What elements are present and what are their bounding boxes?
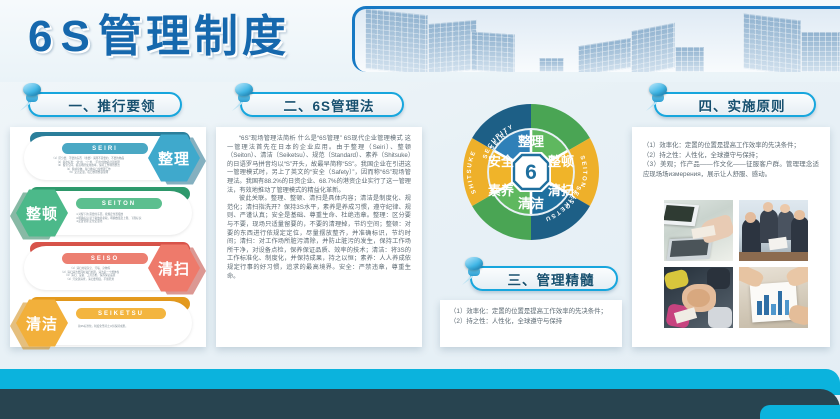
ribbon-seiso-en: SEISO bbox=[91, 256, 119, 262]
section-heading-1: 一、推行要领 bbox=[10, 92, 190, 118]
page-title: 6S管理制度 bbox=[28, 6, 290, 68]
ribbon-seiri-en-pill: SEIRI bbox=[62, 143, 148, 154]
photo-laptop-desk-workspace bbox=[664, 200, 733, 261]
ribbon-seiri-en: SEIRI bbox=[92, 146, 118, 152]
section-pill-3[interactable]: 三、管理精髓 bbox=[470, 266, 618, 291]
page-title-rest: 管理制度 bbox=[98, 12, 290, 61]
principles-line-1: （1）效率化：定置的位置是提高工作效率的先决条件； bbox=[643, 141, 819, 151]
ribbon-seiketsu-lines: 前3S标准化，制度化坚持之以恒保持成果。 bbox=[78, 325, 186, 329]
ribbon-seiso-en-pill: SEISO bbox=[62, 253, 148, 264]
wheel-label-seiton: 整顿 bbox=[547, 154, 574, 169]
essence-line-1: （1）效率化：定置的位置是提高工作效率的先决条件； bbox=[450, 307, 612, 317]
poster-header: 6S管理制度 bbox=[0, 0, 840, 82]
essence-body: （1）效率化：定置的位置是提高工作效率的先决条件； （2）持之性：人性化，全球遵… bbox=[450, 307, 612, 326]
card-6s管理法: “6S”现场管理法简析 什么是“6S管理” 6S现代企业管理模式 这一管理法首先… bbox=[216, 127, 422, 347]
section-heading-4: 四、实施原则 bbox=[636, 92, 826, 118]
photo-grid bbox=[664, 200, 808, 328]
section-label-1: 一、推行要领 bbox=[69, 95, 156, 115]
wheel-label-seiri: 整理 bbox=[517, 134, 544, 149]
ribbon-seiri-lines: （1）区分要、不要的东西 （重要）清理不需要的、不要的物品 （2）频次标准：“常… bbox=[30, 157, 146, 175]
essence-line-2: （2）持之性：人性化，全球遵守与保持 bbox=[450, 317, 612, 327]
wheel-label-seiketsu: 清洁 bbox=[518, 196, 544, 211]
article-paragraph-1: “6S”现场管理法简析 什么是“6S管理” 6S现代企业管理模式 这一管理法首先… bbox=[227, 135, 411, 195]
ribbon-seiri-line-5: （5）定点定量，每日整理整顿现场 bbox=[30, 171, 146, 175]
pushpin-icon bbox=[642, 83, 672, 115]
page-title-main: 6S bbox=[28, 12, 98, 61]
card-推行要领: SEIRI （1）区分要、不要的东西 （重要）清理不需要的、不要的物品 （2）频… bbox=[10, 127, 206, 347]
wheel-label-security: 安全 bbox=[488, 154, 515, 169]
skyline-banner-photo bbox=[352, 6, 840, 72]
ribbon-seiton: SEITON ①对留下的 需要的东西，按规定位置摆放 ②明确标识 易于取放易拿取… bbox=[14, 187, 200, 239]
ribbon-seiton-en-pill: SEITON bbox=[76, 198, 162, 209]
section-label-3: 三、管理精髓 bbox=[508, 269, 595, 289]
poster-root: 6S管理制度 一、推行要领 SEIRI （1）区分要、不要的东西 （重要）清理不… bbox=[0, 0, 840, 419]
ribbon-seiton-cn: 整顿 bbox=[26, 203, 58, 224]
card-实施原则: （1）效率化：定置的位置是提高工作效率的先决条件； （2）持之性：人性化，全球遵… bbox=[632, 127, 830, 347]
section-pill-2[interactable]: 二、6S管理法 bbox=[240, 92, 404, 117]
footer-dark-band bbox=[0, 389, 840, 419]
skyline-inner bbox=[355, 9, 840, 72]
ribbon-seiso: SEISO （1）清扫垃圾灰尘、污垢、杂物等 （2）清扫清洁要同时进行处理，清洁… bbox=[14, 242, 200, 294]
section-heading-2: 二、6S管理法 bbox=[222, 92, 412, 118]
article-paragraph-2: 彼此关联。整理、整顿、清扫是具体内容；清洁是制度化、规范化；清扫指洗开？保持3S… bbox=[227, 195, 411, 281]
wheel-label-shitsuke: 素养 bbox=[488, 183, 515, 198]
ribbon-seiri: SEIRI （1）区分要、不要的东西 （重要）清理不需要的、不要的物品 （2）频… bbox=[14, 132, 200, 184]
pushpin-icon bbox=[458, 257, 488, 289]
pushpin-icon bbox=[228, 83, 258, 115]
pushpin-icon bbox=[16, 83, 46, 115]
ribbon-seiton-en: SEITON bbox=[102, 201, 136, 207]
section-label-4: 四、实施原则 bbox=[699, 95, 786, 115]
section-pill-4[interactable]: 四、实施原则 bbox=[654, 92, 816, 117]
wheel-center-number: 6 bbox=[525, 161, 537, 184]
principles-line-2: （2）持之性：人性化，全球遵守与保持； bbox=[643, 151, 819, 161]
wheel-center-badge: 6 bbox=[511, 152, 551, 192]
card-管理精髓: （1）效率化：定置的位置是提高工作效率的先决条件； （2）持之性：人性化，全球遵… bbox=[440, 300, 622, 347]
section-label-2: 二、6S管理法 bbox=[283, 95, 374, 115]
ribbon-seiketsu-en-pill: SEIKETSU bbox=[76, 308, 166, 319]
section-pill-1[interactable]: 一、推行要领 bbox=[28, 92, 182, 117]
ribbon-seiri-cn: 整理 bbox=[158, 148, 190, 169]
photo-hands-together-teamwork bbox=[664, 267, 733, 328]
wheel-svg: 6 整理 整顿 清扫 清洁 素养 安全 SEIRI SEITON SEISO S… bbox=[457, 98, 605, 246]
section-heading-3: 三、管理精髓 bbox=[452, 266, 622, 292]
ribbon-seiton-line-3: ③定置管理 定位定量化 bbox=[76, 220, 188, 224]
ribbon-seiso-lines: （1）清扫垃圾灰尘、污垢、杂物等 （2）清扫清洁要同时进行处理，清洁是一个整体性… bbox=[34, 267, 146, 281]
photo-chart-review-table bbox=[739, 267, 808, 328]
ribbon-seiso-cn: 清扫 bbox=[158, 258, 190, 279]
photo-team-meeting-discussion bbox=[739, 200, 808, 261]
principles-line-3: （3）美观；作产品——作文化——征服客户群。管理理念适应现场场измерения… bbox=[643, 160, 819, 179]
ribbon-seiketsu-cn: 清洁 bbox=[26, 313, 58, 334]
principles-body: （1）效率化：定置的位置是提高工作效率的先决条件； （2）持之性：人性化，全球遵… bbox=[643, 141, 819, 179]
ribbon-seiketsu: SEIKETSU 前3S标准化，制度化坚持之以恒保持成果。 清洁 bbox=[14, 297, 200, 349]
ribbon-seiketsu-line-1: 前3S标准化，制度化坚持之以恒保持成果。 bbox=[78, 325, 186, 329]
ribbon-seiton-lines: ①对留下的 需要的东西，按规定位置摆放 ②明确标识 易于取放易拿取，明确数量及上… bbox=[76, 213, 188, 224]
article-body: “6S”现场管理法简析 什么是“6S管理” 6S现代企业管理模式 这一管理法首先… bbox=[227, 135, 411, 281]
ribbon-seiso-line-4: （4）污染源清查，清扫要彻底，不留死角 bbox=[34, 278, 146, 282]
footer-cyan-corner bbox=[760, 405, 840, 419]
6s-wheel-diagram: 6 整理 整顿 清扫 清洁 素养 安全 SEIRI SEITON SEISO S… bbox=[457, 98, 605, 246]
ribbon-seiketsu-en: SEIKETSU bbox=[98, 311, 144, 317]
